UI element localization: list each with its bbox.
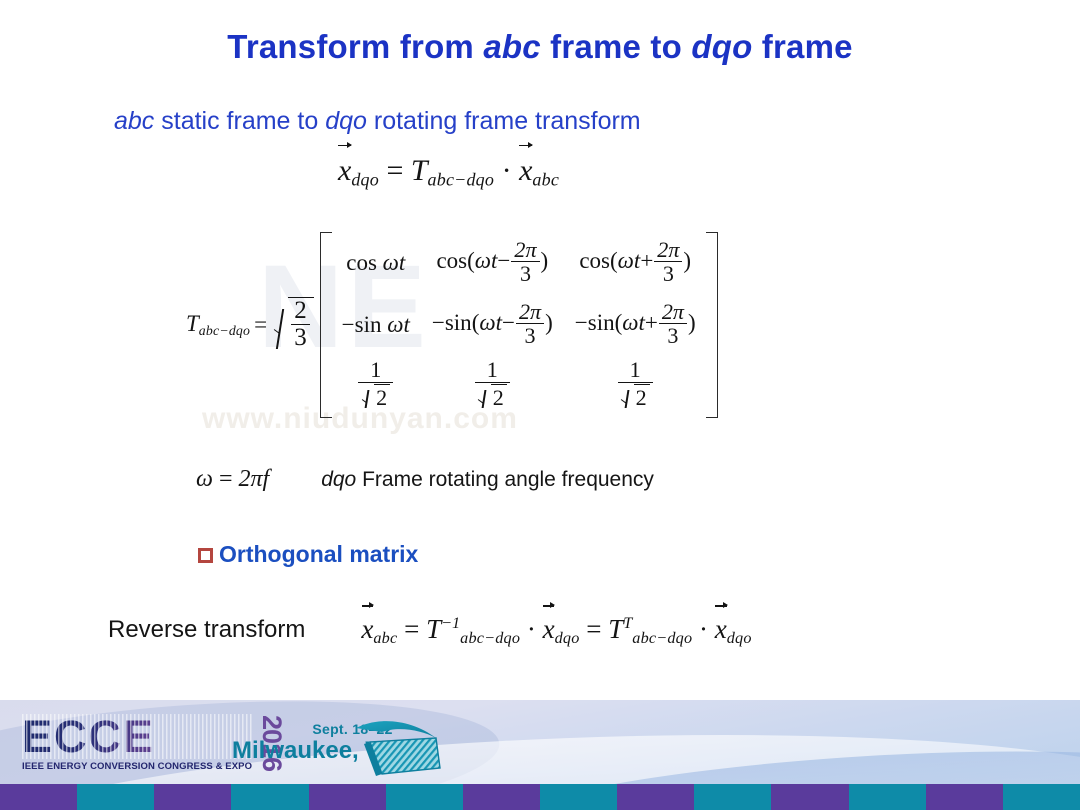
title-em-abc: abc (483, 28, 540, 65)
strip-block (694, 784, 771, 810)
rev-dot-2: · (699, 614, 708, 644)
strip-block (231, 784, 308, 810)
matrix-lhs-sub: abc−dqo (199, 323, 250, 338)
cell-radicand: 2 (374, 384, 390, 409)
rev-t-var-2: T (608, 614, 623, 644)
vector-arrow-icon (543, 600, 555, 611)
sqrt-two: 2 (478, 384, 507, 409)
subtitle-em-abc: abc (114, 107, 154, 135)
strip-block (849, 784, 926, 810)
slide-subtitle: abc static frame to dqo rotating frame t… (114, 107, 641, 136)
vector-arrow-icon (362, 600, 374, 611)
matrix-equals: = (254, 312, 271, 338)
cell-fraction: 2π3 (511, 238, 539, 286)
matrix-cell-r2c0: 12 (331, 356, 421, 418)
wing-upper-blade (356, 721, 436, 738)
slide-title: Transform from abc frame to dqo frame (0, 28, 1080, 66)
matrix-cell-r0c1: cos(ωt−2π3) (421, 232, 564, 294)
cell-arg: ωt (383, 250, 406, 275)
one-over-sqrt-two: 12 (475, 358, 510, 409)
vector-arrow-icon (715, 600, 727, 611)
radical-icon (273, 297, 288, 353)
fraction-denominator: 3 (291, 324, 309, 351)
subtitle-em-dqo: dqo (325, 107, 367, 135)
omega-value: 2πf (239, 466, 270, 492)
cell-prefix: −sin (575, 310, 615, 335)
matrix-cell-r1c0: −sin ωt (331, 294, 421, 356)
radical-icon (361, 384, 373, 409)
cell-prefix: −sin (342, 312, 388, 337)
title-part-2: frame to (541, 28, 692, 65)
rev-equals-2: = (586, 614, 601, 644)
strip-block (771, 784, 848, 810)
strip-block (540, 784, 617, 810)
title-part-3: frame (752, 28, 852, 65)
slide-canvas: NE www.niudunyan.com Transform from abc … (0, 0, 1080, 810)
matrix-row-constant: 12 12 12 (331, 356, 707, 418)
rev-lhs-var: x (361, 614, 373, 644)
strip-block (309, 784, 386, 810)
ecce-stripe-overlay (22, 714, 252, 759)
matrix-scalar-coefficient: 23 (271, 297, 318, 353)
cell-arg: ωt (387, 312, 410, 337)
radical-icon (621, 384, 633, 409)
strip-block (1003, 784, 1080, 810)
cell-fraction: 2π3 (654, 238, 682, 286)
rev-t-sup-2: T (623, 614, 632, 632)
matrix-row-cos: cos ωt cos(ωt−2π3) cos(ωt+2π3) (331, 232, 707, 294)
bottom-color-strip (0, 784, 1080, 810)
cell-frac-den: 3 (511, 261, 539, 285)
cell-fraction: 2π3 (516, 300, 544, 348)
ecce-logo-wordmark: ECCE (22, 714, 252, 759)
orthogonal-matrix-bullet-row: Orthogonal matrix (198, 541, 418, 568)
ecce-logo-tagline: IEEE ENERGY CONVERSION CONGRESS & EXPO (22, 761, 252, 772)
eq1-matrix-sub: abc−dqo (428, 169, 495, 189)
cell-prefix: cos (436, 248, 467, 273)
matrix-bracket-right (707, 232, 720, 418)
strip-block (463, 784, 540, 810)
cell-frac-num: 1 (475, 358, 510, 381)
eq1-equals: = (386, 154, 403, 187)
cell-frac-num: 2π (659, 300, 687, 323)
matrix-cell-r0c0: cos ωt (331, 232, 421, 294)
matrix-lhs: Tabc−dqo (186, 311, 254, 339)
cell-fraction: 2π3 (659, 300, 687, 348)
vector-x-abc: x (361, 612, 373, 645)
eq1-rhs-var: x (519, 154, 532, 187)
matrix-cell-r2c1: 12 (421, 356, 564, 418)
rev-rhs-var: x (715, 614, 727, 644)
vector-arrow-icon (519, 138, 532, 151)
title-part-1: Transform from (227, 28, 483, 65)
cell-operator: − (502, 310, 515, 335)
subtitle-part-1: static frame to (154, 107, 325, 135)
matrix-cell-r2c2: 12 (564, 356, 707, 418)
matrix-row-sin: −sin ωt −sin(ωt−2π3) −sin(ωt+2π3) (331, 294, 707, 356)
ecce-logo-main: ECCE IEEE ENERGY CONVERSION CONGRESS & E… (22, 714, 252, 772)
sqrt-two: 2 (361, 384, 390, 409)
eq1-lhs-var: x (338, 154, 351, 187)
cell-paren-close: ) (541, 248, 549, 273)
cell-arg: ωt (618, 248, 641, 273)
rev-mid-var: x (543, 614, 555, 644)
strip-block (0, 784, 77, 810)
vector-x-dqo: x (338, 152, 351, 188)
strip-block (926, 784, 1003, 810)
one-over-sqrt-two: 12 (358, 358, 393, 409)
sqrt-two-thirds: 23 (273, 297, 314, 353)
strip-block (386, 784, 463, 810)
vector-arrow-icon (338, 138, 351, 151)
cell-frac-den: 3 (659, 323, 687, 347)
cell-frac-num: 2π (654, 238, 682, 261)
rev-t-sub-2: abc−dqo (632, 629, 692, 647)
eq1-matrix-var: T (411, 154, 428, 187)
vector-x-dqo: x (543, 612, 555, 645)
title-em-dqo: dqo (691, 28, 752, 65)
rev-equals-1: = (404, 614, 419, 644)
matrix-bracket-left (318, 232, 331, 418)
omega-equation: ω = 2πf (196, 466, 269, 493)
strip-block (77, 784, 154, 810)
fraction-numerator: 2 (291, 298, 309, 324)
rev-dot-1: · (527, 614, 536, 644)
cell-operator: + (640, 248, 653, 273)
cell-paren-open: ( (467, 248, 475, 273)
omega-symbol: ω (196, 466, 213, 492)
radical-icon (478, 384, 490, 409)
matrix-cell-r1c2: −sin(ωt+2π3) (564, 294, 707, 356)
cell-prefix: −sin (432, 310, 472, 335)
subtitle-part-2: rotating frame transform (367, 107, 641, 135)
cell-prefix: cos (346, 250, 382, 275)
rev-t-sup-1: −1 (441, 614, 460, 632)
sqrt-two: 2 (621, 384, 650, 409)
cell-frac-num: 1 (358, 358, 393, 381)
rev-t-var-1: T (426, 614, 441, 644)
cell-frac-num: 1 (618, 358, 653, 381)
cell-arg: ωt (475, 248, 498, 273)
cell-paren-open: ( (610, 248, 618, 273)
omega-desc-rest: Frame rotating angle frequency (356, 468, 654, 491)
eq1-rhs-sub: abc (532, 169, 559, 189)
omega-equals: = (219, 466, 233, 492)
orthogonal-matrix-label: Orthogonal matrix (219, 541, 418, 568)
fraction-two-thirds: 23 (291, 298, 309, 352)
eq1-dot-operator: · (502, 154, 512, 187)
rev-lhs-sub: abc (373, 629, 397, 647)
rev-mid-sub: dqo (555, 629, 580, 647)
cell-paren-close: ) (688, 310, 696, 335)
cell-arg: ωt (622, 310, 645, 335)
wing-sail-panel (370, 738, 440, 774)
cell-frac-num: 2π (516, 300, 544, 323)
strip-block (617, 784, 694, 810)
cell-operator: − (497, 248, 510, 273)
matrix-cell-r0c2: cos(ωt+2π3) (564, 232, 707, 294)
omega-definition-row: ω = 2πf dqo Frame rotating angle frequen… (196, 466, 654, 493)
matrix-cell-r1c1: −sin(ωt−2π3) (421, 294, 564, 356)
milwaukee-wing-icon (352, 714, 444, 780)
cell-frac-num: 2π (511, 238, 539, 261)
cell-radicand: 2 (634, 384, 650, 409)
cell-radicand: 2 (491, 384, 507, 409)
cell-paren-close: ) (545, 310, 553, 335)
reverse-transform-row: Reverse transform xabc = T−1abc−dqo · xd… (108, 612, 752, 648)
matrix-body: cos ωt cos(ωt−2π3) cos(ωt+2π3) −sin ωt −… (331, 232, 707, 418)
omega-desc-em: dqo (321, 468, 356, 491)
omega-description: dqo Frame rotating angle frequency (321, 468, 654, 492)
strip-block (154, 784, 231, 810)
cell-operator: + (645, 310, 658, 335)
cell-arg: ωt (479, 310, 502, 335)
cell-frac-den: 3 (516, 323, 544, 347)
transform-matrix-definition: Tabc−dqo = 23 cos ωt cos(ωt−2π3) cos(ωt+… (186, 232, 720, 418)
cell-paren-close: ) (683, 248, 691, 273)
reverse-transform-label: Reverse transform (108, 616, 305, 644)
one-over-sqrt-two: 12 (618, 358, 653, 409)
vector-x-abc: x (519, 152, 532, 188)
rev-rhs-sub: dqo (727, 629, 752, 647)
reverse-transform-equation: xabc = T−1abc−dqo · xdqo = TTabc−dqo · x… (361, 612, 751, 648)
cell-frac-den: 3 (654, 261, 682, 285)
cell-prefix: cos (579, 248, 610, 273)
square-bullet-icon (198, 548, 213, 563)
rev-t-sub-1: abc−dqo (460, 629, 520, 647)
forward-transform-equation: xdqo = Tabc−dqo · xabc (338, 152, 559, 190)
matrix-lhs-var: T (186, 311, 199, 336)
vector-x-dqo: x (715, 612, 727, 645)
eq1-lhs-sub: dqo (351, 169, 379, 189)
